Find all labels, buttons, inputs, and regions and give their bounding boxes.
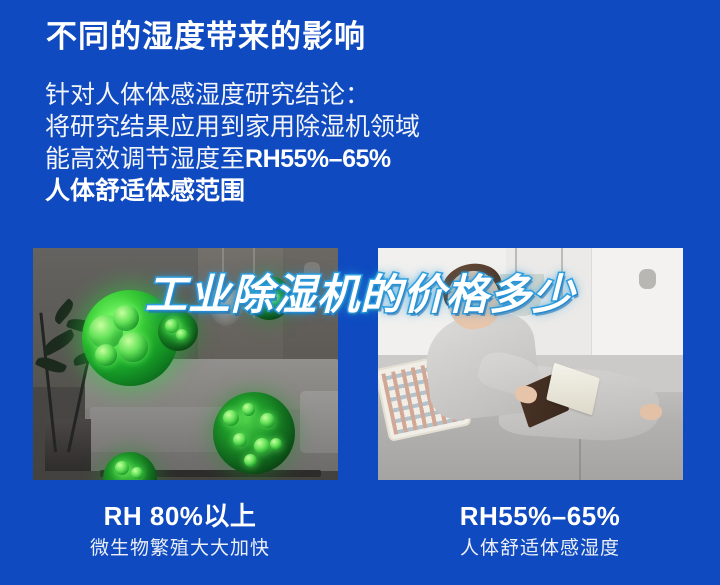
body-line-3: 能高效调节湿度至RH55%–65%	[45, 143, 475, 175]
poster-root: 不同的湿度带来的影响 针对人体体感湿度研究结论： 将研究结果应用到家用除湿机领域…	[0, 0, 720, 585]
body-line-4: 人体舒适体感范围	[45, 175, 475, 207]
person-foot	[640, 404, 662, 420]
body-line-1: 针对人体体感湿度研究结论：	[45, 79, 475, 111]
caption-left-sub: 微生物繁殖大大加快	[0, 536, 360, 562]
caption-left: RH 80%以上 微生物繁殖大大加快	[0, 500, 360, 562]
overlay-headline: 工业除湿机的价格多少	[0, 272, 720, 318]
microbe-sphere	[213, 392, 295, 474]
caption-row: RH 80%以上 微生物繁殖大大加快 RH55%–65% 人体舒适体感湿度	[0, 500, 720, 562]
body-copy: 针对人体体感湿度研究结论： 将研究结果应用到家用除湿机领域 能高效调节湿度至RH…	[45, 79, 475, 207]
body-line-2: 将研究结果应用到家用除湿机领域	[45, 111, 475, 143]
caption-right: RH55%–65% 人体舒适体感湿度	[360, 500, 720, 562]
body-line-3-highlight: RH55%–65%	[245, 145, 391, 173]
body-line-3-prefix: 能高效调节湿度至	[45, 145, 245, 173]
caption-left-main: RH 80%以上	[0, 500, 360, 532]
caption-right-sub: 人体舒适体感湿度	[360, 536, 720, 562]
page-title: 不同的湿度带来的影响	[46, 18, 366, 56]
sofa-armrest	[300, 391, 338, 453]
caption-right-main: RH55%–65%	[360, 500, 720, 532]
